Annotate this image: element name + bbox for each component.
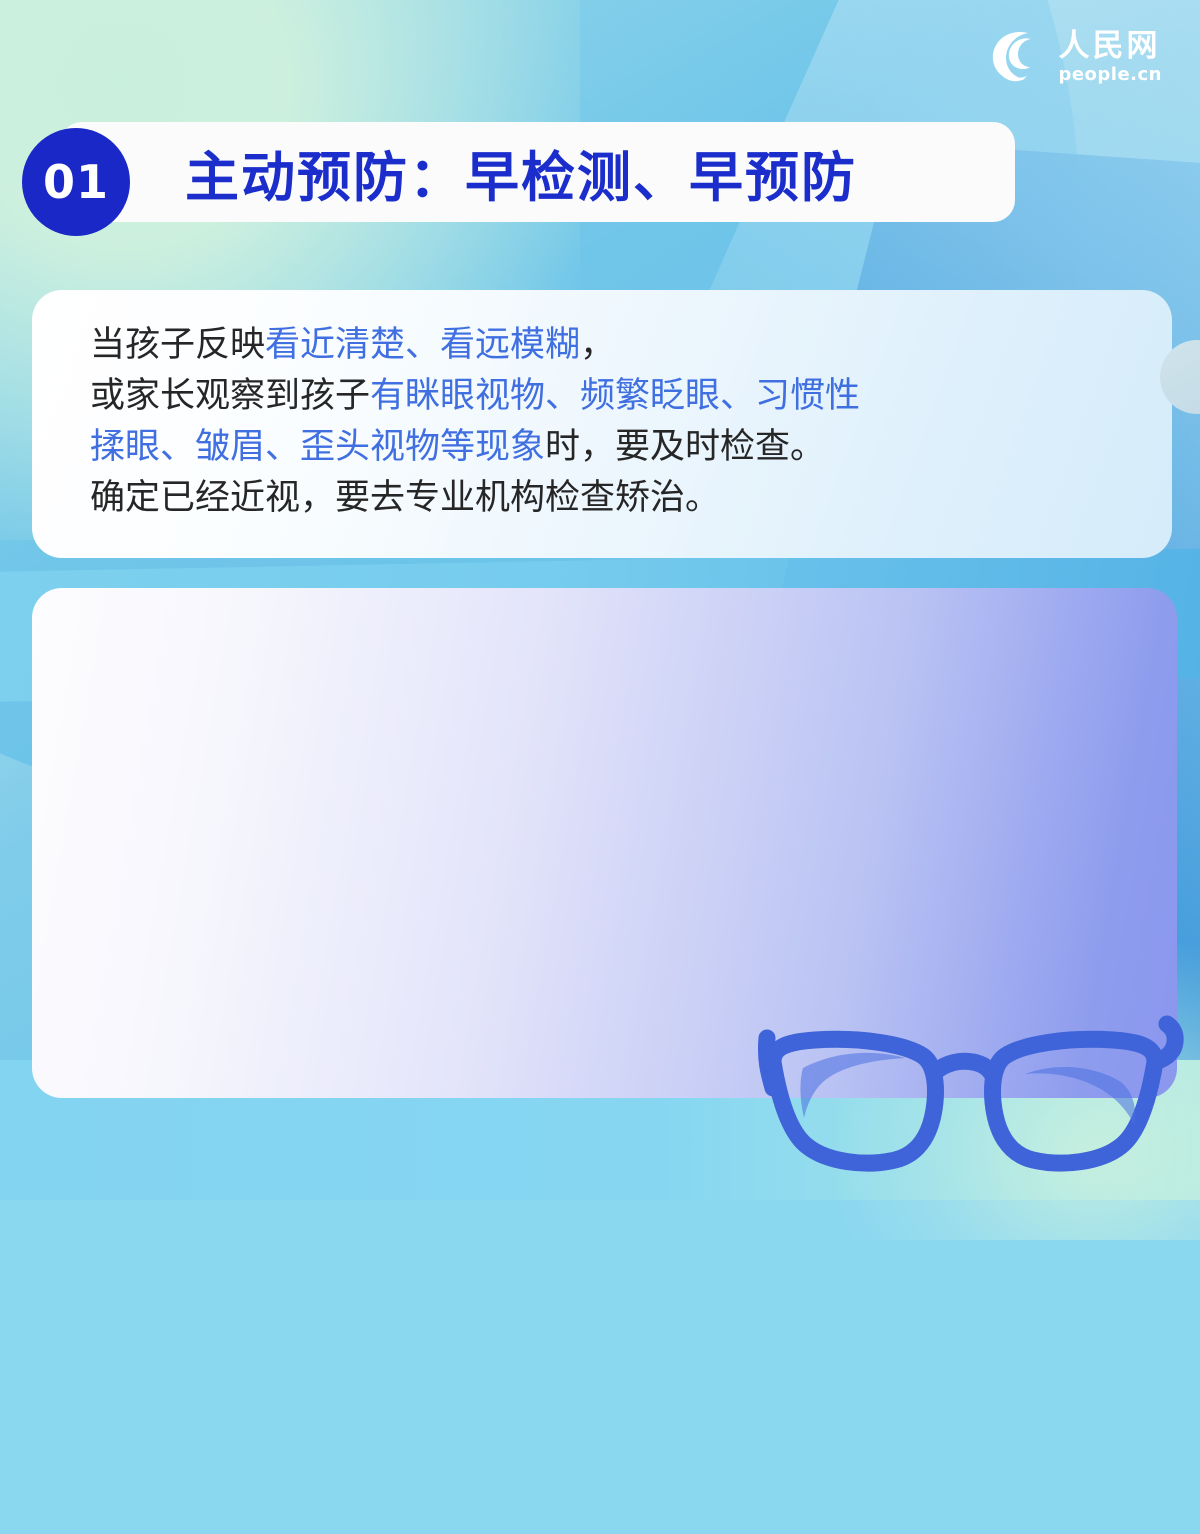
paragraph-line: 揉眼、皱眉、歪头视物等现象时，要及时检查。 [90, 422, 1172, 473]
page-title: 主动预防：早检测、早预防 [185, 133, 857, 212]
text-run: 有眯眼视物、频繁眨眼、习惯性 [370, 376, 860, 416]
section-number-label: 01 [43, 155, 109, 209]
section-title-bar: 主动预防：早检测、早预防 [60, 122, 1015, 222]
paragraph-line: 当孩子反映看近清楚、看远模糊， [90, 320, 1172, 371]
section-number-badge: 01 [22, 128, 130, 236]
text-run: 时，要及时检查。 [545, 427, 825, 467]
paragraph-line: 确定已经近视，要去专业机构检查矫治。 [90, 473, 1172, 524]
text-run: 或家长观察到孩子 [90, 376, 370, 416]
logo-name-en: people.cn [1058, 66, 1162, 84]
recommendation-card [32, 588, 1177, 1098]
people-globe-icon [984, 26, 1046, 88]
paragraph-line: 或家长观察到孩子有眯眼视物、频繁眨眼、习惯性 [90, 371, 1172, 422]
paragraph-card-body: 当孩子反映看近清楚、看远模糊， 或家长观察到孩子有眯眼视物、频繁眨眼、习惯性 揉… [32, 290, 1172, 524]
text-run: 当孩子反映 [90, 325, 265, 365]
logo-name-cn: 人民网 [1058, 31, 1160, 62]
text-run: 看近清楚、看远模糊 [265, 325, 580, 365]
text-run: 确定已经近视，要去专业机构检查矫治。 [90, 478, 720, 518]
text-run: ， [580, 325, 615, 365]
brand-logo: 人民网 people.cn [984, 26, 1162, 88]
paragraph-card: 当孩子反映看近清楚、看远模糊， 或家长观察到孩子有眯眼视物、频繁眨眼、习惯性 揉… [32, 290, 1172, 558]
text-run: 揉眼、皱眉、歪头视物等现象 [90, 427, 545, 467]
